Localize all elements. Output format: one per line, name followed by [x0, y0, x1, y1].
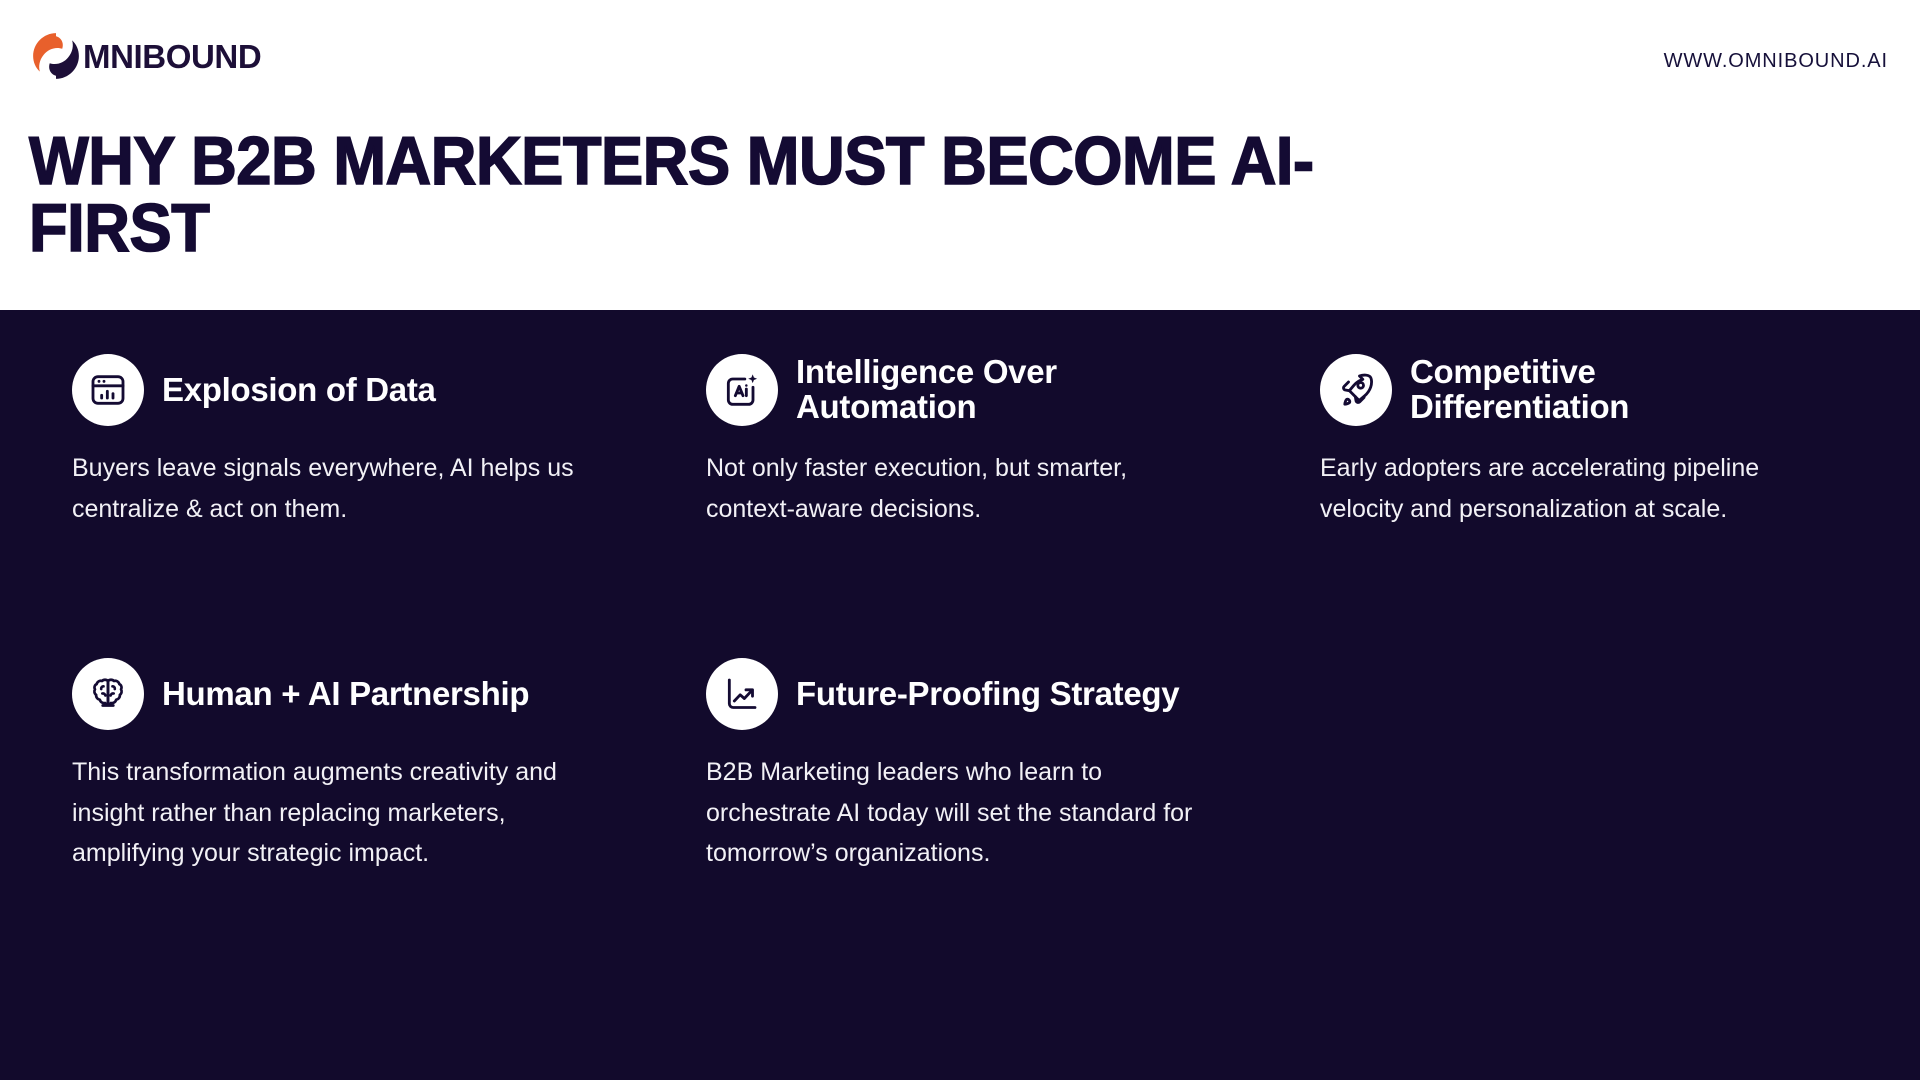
features-panel: Explosion of Data Buyers leave signals e… — [0, 310, 1920, 1080]
card-title: Competitive Differentiation — [1410, 355, 1810, 425]
slide-canvas: MNIBOUND WWW.OMNIBOUND.AI WHY B2B MARKET… — [0, 0, 1920, 1080]
card-body: B2B Marketing leaders who learn to orche… — [706, 752, 1206, 874]
card-body: Buyers leave signals everywhere, AI help… — [72, 448, 582, 529]
brain-icon — [72, 658, 144, 730]
omnibound-swirl-logo-icon — [30, 30, 82, 82]
brand-logo[interactable]: MNIBOUND — [30, 30, 261, 82]
card-title: Future-Proofing Strategy — [796, 677, 1179, 712]
feature-card-competitive-differentiation: Competitive Differentiation Early adopte… — [1320, 348, 1840, 529]
features-grid: Explosion of Data Buyers leave signals e… — [0, 310, 1920, 1080]
ai-sparkle-icon — [706, 354, 778, 426]
page-title: WHY B2B MARKETERS MUST BECOME AI-FIRST — [29, 128, 1331, 261]
dashboard-data-icon — [72, 354, 144, 426]
card-body: This transformation augments creativity … — [72, 752, 582, 874]
card-title: Intelligence Over Automation — [796, 355, 1196, 425]
rocket-icon — [1320, 354, 1392, 426]
card-header: Competitive Differentiation — [1320, 348, 1840, 432]
card-header: Intelligence Over Automation — [706, 348, 1226, 432]
card-title: Human + AI Partnership — [162, 677, 529, 712]
card-title: Explosion of Data — [162, 373, 436, 408]
growth-chart-icon — [706, 658, 778, 730]
card-body: Not only faster execution, but smarter, … — [706, 448, 1206, 529]
brand-wordmark: MNIBOUND — [83, 40, 261, 73]
card-header: Human + AI Partnership — [72, 652, 592, 736]
card-header: Future-Proofing Strategy — [706, 652, 1226, 736]
feature-card-explosion-of-data: Explosion of Data Buyers leave signals e… — [72, 348, 592, 529]
card-body: Early adopters are accelerating pipeline… — [1320, 448, 1820, 529]
feature-card-human-plus-ai-partnership: Human + AI Partnership This transformati… — [72, 652, 592, 874]
feature-card-intelligence-over-automation: Intelligence Over Automation Not only fa… — [706, 348, 1226, 529]
site-url: WWW.OMNIBOUND.AI — [1664, 50, 1888, 73]
card-header: Explosion of Data — [72, 348, 592, 432]
feature-card-future-proofing-strategy: Future-Proofing Strategy B2B Marketing l… — [706, 652, 1226, 874]
